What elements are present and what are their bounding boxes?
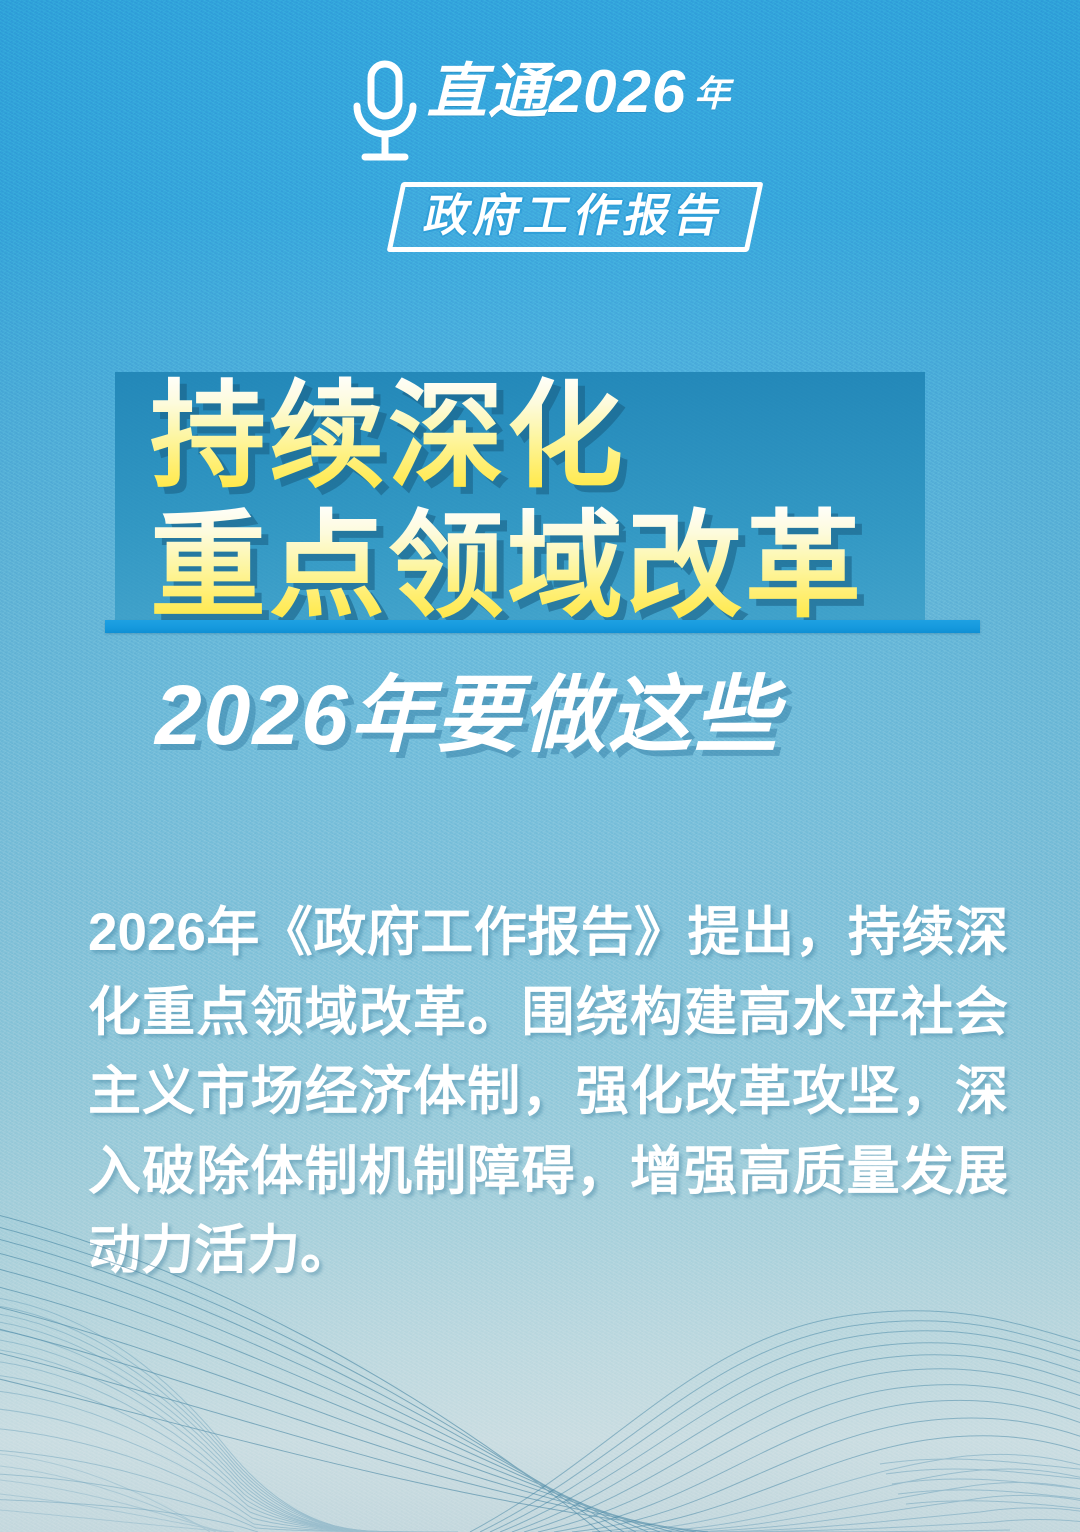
logo-row: 直通2026年 (349, 56, 732, 170)
headline-divider-bar (105, 620, 980, 633)
body-paragraph: 2026年《政府工作报告》提出，持续深化重点领域改革。围绕构建高水平社会主义市场… (88, 893, 1008, 1291)
headline-line-2: 重点领域改革 (150, 502, 1050, 632)
logo-title: 直通2026年 (427, 58, 732, 125)
headline-line-1: 持续深化 (150, 372, 1050, 502)
headline-block: 持续深化 重点领域改革 (150, 372, 1050, 632)
logo-title-wrap: 直通2026年 (427, 56, 732, 122)
program-logo: 直通2026年 政府工作报告 (0, 56, 1080, 252)
logo-title-main: 直通2026 (427, 58, 686, 125)
poster-root: 直通2026年 政府工作报告 持续深化 重点领域改革 2026年要做这些 202… (0, 0, 1080, 1532)
microphone-icon (349, 58, 421, 170)
logo-title-year-suffix: 年 (694, 73, 731, 114)
logo-badge-label: 政府工作报告 (420, 192, 730, 239)
headline-subtitle: 2026年要做这些 (155, 648, 780, 769)
logo-badge: 政府工作报告 (387, 182, 764, 252)
